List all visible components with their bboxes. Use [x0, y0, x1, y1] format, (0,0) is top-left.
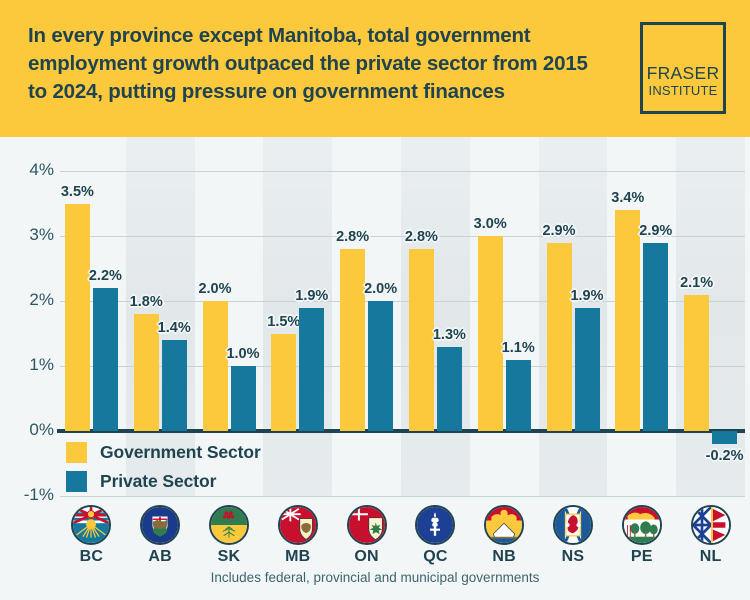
- province-code-label: QC: [402, 548, 468, 566]
- bar-value-label: 2.8%: [326, 229, 380, 245]
- alberta-flag-icon: [140, 505, 180, 545]
- bar-value-label: 1.9%: [560, 288, 614, 304]
- prince-edward-island-flag-icon: [622, 505, 662, 545]
- bar-value-label: 2.2%: [78, 268, 132, 284]
- province-tick-qc: QC: [402, 505, 468, 566]
- y-axis-tick-label: 4%: [0, 160, 54, 180]
- legend-swatch-government: [66, 442, 87, 463]
- province-code-label: SK: [196, 548, 262, 566]
- bar-value-label: 3.0%: [463, 216, 517, 232]
- chart-page: In every province except Manitoba, total…: [0, 0, 750, 600]
- province-code-label: AB: [127, 548, 193, 566]
- bar-value-label: 1.4%: [147, 320, 201, 336]
- header-banner: In every province except Manitoba, total…: [0, 0, 750, 137]
- saskatchewan-flag-icon: [209, 505, 249, 545]
- bar-value-label: 2.0%: [354, 281, 408, 297]
- y-axis-tick-label: 0%: [0, 420, 54, 440]
- province-code-label: MB: [265, 548, 331, 566]
- chart-caption: Includes federal, provincial and municip…: [0, 570, 750, 585]
- legend-swatch-private: [66, 471, 87, 492]
- legend-item-government: Government Sector: [66, 438, 261, 467]
- bar-value-label: 1.0%: [216, 346, 270, 362]
- bar-ns-government: [547, 243, 572, 432]
- quebec-flag-icon: [415, 505, 455, 545]
- bar-value-label: 2.0%: [188, 281, 242, 297]
- province-tick-on: ON: [334, 505, 400, 566]
- british-columbia-flag-icon: [71, 505, 111, 545]
- bar-bc-private: [93, 288, 118, 431]
- bar-nl-private: [712, 431, 737, 444]
- bar-on-government: [340, 249, 365, 431]
- bar-qc-private: [437, 347, 462, 432]
- bar-nl-government: [684, 295, 709, 432]
- bar-ns-private: [575, 308, 600, 432]
- bar-value-label: 2.1%: [670, 275, 724, 291]
- province-tick-ns: NS: [540, 505, 606, 566]
- nova-scotia-flag-icon: [553, 505, 593, 545]
- province-code-label: NB: [471, 548, 537, 566]
- province-tick-sk: SK: [196, 505, 262, 566]
- bar-value-label: 2.9%: [629, 223, 683, 239]
- bar-value-label: 1.9%: [285, 288, 339, 304]
- logo-text: FRASER INSTITUTE: [643, 64, 723, 98]
- bar-on-private: [368, 301, 393, 431]
- province-tick-nl: NL: [678, 505, 744, 566]
- legend-label-government: Government Sector: [100, 442, 261, 463]
- y-axis-tick-label: 3%: [0, 225, 54, 245]
- manitoba-flag-icon: [278, 505, 318, 545]
- ontario-flag-icon: [347, 505, 387, 545]
- bar-mb-government: [271, 334, 296, 432]
- new-brunswick-flag-icon: [484, 505, 524, 545]
- y-axis-tick-label: -1%: [0, 485, 54, 505]
- province-code-label: ON: [334, 548, 400, 566]
- bar-value-label: 1.3%: [422, 327, 476, 343]
- logo-line-institute: INSTITUTE: [643, 83, 723, 98]
- bar-bc-government: [65, 204, 90, 432]
- province-tick-nb: NB: [471, 505, 537, 566]
- bar-nb-government: [478, 236, 503, 431]
- province-tick-mb: MB: [265, 505, 331, 566]
- bar-value-label: 1.8%: [119, 294, 173, 310]
- province-tick-ab: AB: [127, 505, 193, 566]
- chart-legend: Government Sector Private Sector: [66, 438, 261, 496]
- province-code-label: NL: [678, 548, 744, 566]
- bar-pe-private: [643, 243, 668, 432]
- x-axis-province-labels: BC AB SK MB ON Q: [0, 505, 750, 569]
- bar-sk-private: [231, 366, 256, 431]
- bar-pe-government: [615, 210, 640, 431]
- bar-sk-government: [203, 301, 228, 431]
- page-title: In every province except Manitoba, total…: [28, 22, 608, 106]
- bar-value-label: 3.4%: [601, 190, 655, 206]
- province-code-label: BC: [58, 548, 124, 566]
- legend-label-private: Private Sector: [100, 471, 216, 492]
- province-code-label: NS: [540, 548, 606, 566]
- bar-value-label: 2.9%: [532, 223, 586, 239]
- bar-ab-private: [162, 340, 187, 431]
- bar-mb-private: [299, 308, 324, 432]
- chart-plot-area: 3.5%2.2%1.8%1.4%2.0%1.0%1.5%1.9%2.8%2.0%…: [0, 137, 750, 600]
- province-code-label: PE: [609, 548, 675, 566]
- y-axis-tick-label: 2%: [0, 290, 54, 310]
- province-tick-bc: BC: [58, 505, 124, 566]
- province-tick-pe: PE: [609, 505, 675, 566]
- fraser-institute-logo: FRASER INSTITUTE: [640, 22, 726, 114]
- bar-value-label: 1.1%: [491, 340, 545, 356]
- y-axis-tick-label: 1%: [0, 355, 54, 375]
- bar-value-label: -0.2%: [698, 448, 750, 464]
- legend-item-private: Private Sector: [66, 467, 261, 496]
- bar-nb-private: [506, 360, 531, 432]
- newfoundland-labrador-flag-icon: [691, 505, 731, 545]
- bar-value-label: 2.8%: [394, 229, 448, 245]
- bar-value-label: 3.5%: [50, 184, 104, 200]
- logo-line-fraser: FRASER: [643, 64, 723, 83]
